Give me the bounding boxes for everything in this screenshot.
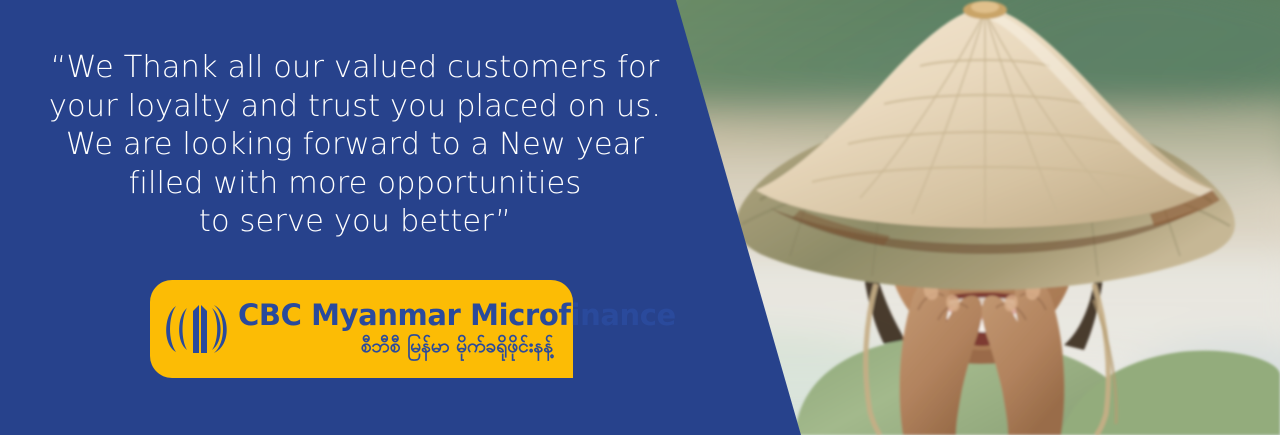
quote-line-2: your loyalty and trust you placed on us. — [0, 88, 710, 127]
logo-text-block: CBC Myanmar Microfinance စီဘီစီ မြန်မာ မ… — [234, 299, 676, 359]
quote-line-4: filled with more opportunities — [0, 165, 710, 204]
cbc-logo-banner[interactable]: CBC Myanmar Microfinance စီဘီစီ မြန်မာ မ… — [150, 280, 573, 378]
logo-title: CBC Myanmar Microfinance — [238, 299, 676, 331]
cbc-circular-mark-icon — [160, 299, 234, 359]
quote-line-3: We are looking forward to a New year — [0, 126, 710, 165]
cbc-mark-svg — [160, 299, 234, 359]
logo-subtitle-burmese: စီဘီစီ မြန်မာ မိုက်ခရိုဖိုင်းနန့် — [238, 333, 676, 359]
quote-line-5: to serve you better” — [0, 203, 710, 242]
quote-text: “We Thank all our valued customers for y… — [0, 49, 710, 242]
promo-banner: “We Thank all our valued customers for y… — [0, 0, 1280, 435]
quote-line-1: “We Thank all our valued customers for — [0, 49, 710, 88]
